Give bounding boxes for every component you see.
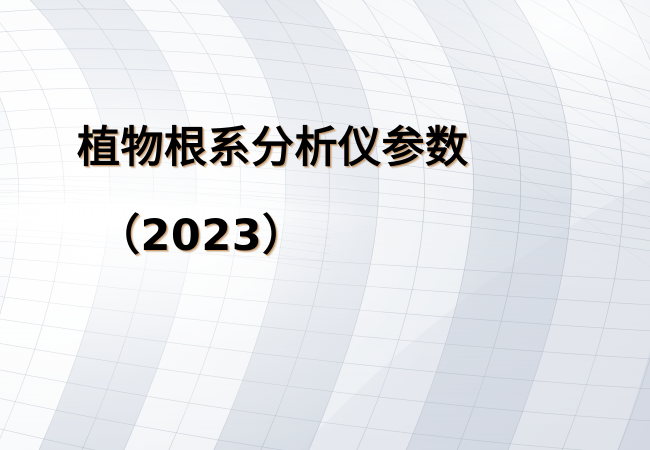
- mesh-vertical-lines: [0, 0, 650, 450]
- highlight-streak-core: [0, 205, 320, 221]
- mesh-horizontal-arcs: [0, 9, 650, 254]
- background-mesh-decoration: [0, 0, 650, 450]
- mesh-fine-striping: [0, 178, 330, 270]
- highlight-streak: [0, 186, 520, 246]
- mesh-lower-arcs: [0, 240, 650, 450]
- slide-title-block: 植物根系分析仪参数 （2023）: [0, 0, 650, 450]
- corner-shade: [300, 180, 650, 450]
- ribbon-bands: [0, 0, 650, 450]
- slide-title-primary: 植物根系分析仪参数: [77, 127, 469, 170]
- mesh-diagonal-hatch: [250, 0, 650, 288]
- presentation-slide: 植物根系分析仪参数 （2023）: [0, 0, 650, 450]
- slide-title-year: （2023）: [97, 215, 306, 258]
